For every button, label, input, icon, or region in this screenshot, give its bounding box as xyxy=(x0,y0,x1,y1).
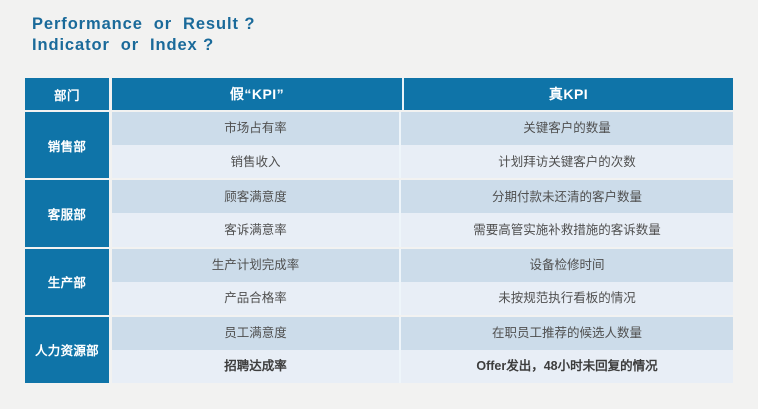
real-kpi-cell: 未按规范执行看板的情况 xyxy=(401,282,733,315)
department-name-cell: 销售部 xyxy=(25,112,109,178)
fake-kpi-cell: 顾客满意度 xyxy=(112,180,401,213)
department-name-cell: 客服部 xyxy=(25,180,109,246)
real-kpi-cell: 关键客户的数量 xyxy=(401,112,733,145)
fake-kpi-cell: 销售收入 xyxy=(112,145,401,178)
department-rows: 顾客满意度分期付款未还清的客户数量客诉满意率需要高管实施补救措施的客诉数量 xyxy=(112,180,733,246)
page-title-line-2: Indicator or Index ? xyxy=(32,35,592,56)
column-header-real-kpi: 真KPI xyxy=(404,78,733,110)
department-rows: 生产计划完成率设备检修时间产品合格率未按规范执行看板的情况 xyxy=(112,249,733,315)
table-row: 招聘达成率Offer发出，48小时未回复的情况 xyxy=(112,350,733,383)
department-name-cell: 人力资源部 xyxy=(25,317,109,383)
department-name-cell: 生产部 xyxy=(25,249,109,315)
table-row: 顾客满意度分期付款未还清的客户数量 xyxy=(112,180,733,213)
table-row: 客诉满意率需要高管实施补救措施的客诉数量 xyxy=(112,213,733,246)
department-group: 人力资源部员工满意度在职员工推荐的候选人数量招聘达成率Offer发出，48小时未… xyxy=(25,317,733,383)
column-header-department: 部门 xyxy=(25,78,109,110)
real-kpi-cell: 在职员工推荐的候选人数量 xyxy=(401,317,733,350)
department-group: 客服部顾客满意度分期付款未还清的客户数量客诉满意率需要高管实施补救措施的客诉数量 xyxy=(25,180,733,246)
fake-kpi-cell: 市场占有率 xyxy=(112,112,401,145)
table-header-row: 部门 假“KPI” 真KPI xyxy=(25,78,733,110)
real-kpi-cell: Offer发出，48小时未回复的情况 xyxy=(401,350,733,383)
department-rows: 市场占有率关键客户的数量销售收入计划拜访关键客户的次数 xyxy=(112,112,733,178)
fake-kpi-cell: 客诉满意率 xyxy=(112,213,401,246)
table-body: 销售部市场占有率关键客户的数量销售收入计划拜访关键客户的次数客服部顾客满意度分期… xyxy=(25,112,733,383)
department-group: 销售部市场占有率关键客户的数量销售收入计划拜访关键客户的次数 xyxy=(25,112,733,178)
fake-kpi-cell: 产品合格率 xyxy=(112,282,401,315)
department-rows: 员工满意度在职员工推荐的候选人数量招聘达成率Offer发出，48小时未回复的情况 xyxy=(112,317,733,383)
table-row: 销售收入计划拜访关键客户的次数 xyxy=(112,145,733,178)
table-row: 生产计划完成率设备检修时间 xyxy=(112,249,733,282)
fake-kpi-cell: 员工满意度 xyxy=(112,317,401,350)
real-kpi-cell: 计划拜访关键客户的次数 xyxy=(401,145,733,178)
real-kpi-cell: 分期付款未还清的客户数量 xyxy=(401,180,733,213)
department-group: 生产部生产计划完成率设备检修时间产品合格率未按规范执行看板的情况 xyxy=(25,249,733,315)
slide-root: Performance or Result ? Indicator or Ind… xyxy=(0,0,758,409)
page-title: Performance or Result ? Indicator or Ind… xyxy=(32,14,592,56)
real-kpi-cell: 设备检修时间 xyxy=(401,249,733,282)
page-title-line-1: Performance or Result ? xyxy=(32,14,592,35)
table-row: 产品合格率未按规范执行看板的情况 xyxy=(112,282,733,315)
column-header-fake-kpi: 假“KPI” xyxy=(112,78,404,110)
table-row: 员工满意度在职员工推荐的候选人数量 xyxy=(112,317,733,350)
real-kpi-cell: 需要高管实施补救措施的客诉数量 xyxy=(401,213,733,246)
kpi-comparison-table: 部门 假“KPI” 真KPI 销售部市场占有率关键客户的数量销售收入计划拜访关键… xyxy=(25,78,733,383)
fake-kpi-cell: 招聘达成率 xyxy=(112,350,401,383)
table-row: 市场占有率关键客户的数量 xyxy=(112,112,733,145)
fake-kpi-cell: 生产计划完成率 xyxy=(112,249,401,282)
